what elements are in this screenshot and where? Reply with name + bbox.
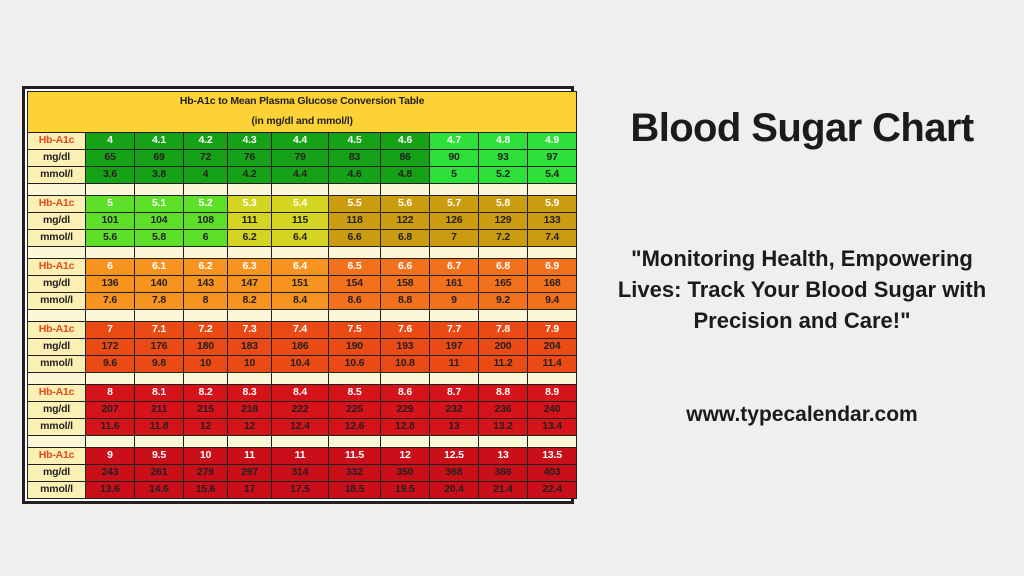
row-label-a1c: Hb-A1c [28,385,86,402]
cell-a1c: 5.5 [329,196,381,213]
cell-a1c: 12.5 [430,448,479,465]
cell-mmol: 12.6 [329,419,381,436]
cell-mgdl: 122 [381,213,430,230]
cell-a1c: 11 [228,448,272,465]
table-row: mg/dl207211215218222225229232236240 [28,402,577,419]
table-subtitle-row: (in mg/dl and mmol/l) [28,112,577,133]
cell-mmol: 7 [430,230,479,247]
cell-mgdl: 151 [272,276,329,293]
cell-mgdl: 207 [86,402,135,419]
row-label-mmol: mmol/l [28,419,86,436]
tagline-text: "Monitoring Health, Empowering Lives: Tr… [596,243,1008,337]
row-label-mgdl: mg/dl [28,150,86,167]
cell-a1c: 7.6 [381,322,430,339]
table-row: mmol/l11.611.8121212.412.612.81313.213.4 [28,419,577,436]
cell-mmol: 7.4 [528,230,577,247]
cell-mgdl: 97 [528,150,577,167]
cell-mgdl: 104 [135,213,184,230]
cell-mmol: 11.2 [479,356,528,373]
cell-mgdl: 204 [528,339,577,356]
cell-mmol: 4.8 [381,167,430,184]
cell-mmol: 4.2 [228,167,272,184]
row-label-mgdl: mg/dl [28,213,86,230]
cell-a1c: 10 [184,448,228,465]
cell-mmol: 6.4 [272,230,329,247]
cell-mmol: 6.6 [329,230,381,247]
cell-mmol: 4 [184,167,228,184]
hba1c-conversion-table: Hb-A1c to Mean Plasma Glucose Conversion… [27,91,577,499]
cell-mmol: 4.4 [272,167,329,184]
cell-a1c: 7.3 [228,322,272,339]
cell-mmol: 8.6 [329,293,381,310]
row-label-mmol: mmol/l [28,293,86,310]
cell-a1c: 8.2 [184,385,228,402]
table-row: Hb-A1c55.15.25.35.45.55.65.75.85.9 [28,196,577,213]
cell-mmol: 14.6 [135,482,184,499]
cell-mmol: 20.4 [430,482,479,499]
cell-a1c: 6.9 [528,259,577,276]
cell-mgdl: 243 [86,465,135,482]
page-title: Blood Sugar Chart [596,106,1008,151]
cell-mmol: 7.2 [479,230,528,247]
cell-mgdl: 332 [329,465,381,482]
cell-mmol: 13.6 [86,482,135,499]
cell-a1c: 7.8 [479,322,528,339]
cell-a1c: 4.2 [184,133,228,150]
cell-mgdl: 368 [430,465,479,482]
row-label-mmol: mmol/l [28,167,86,184]
cell-mmol: 11.4 [528,356,577,373]
cell-mgdl: 86 [381,150,430,167]
cell-mgdl: 215 [184,402,228,419]
cell-mmol: 5 [430,167,479,184]
cell-mgdl: 197 [430,339,479,356]
cell-mmol: 21.4 [479,482,528,499]
cell-mgdl: 190 [329,339,381,356]
cell-a1c: 5.1 [135,196,184,213]
cell-mgdl: 147 [228,276,272,293]
row-label-a1c: Hb-A1c [28,133,86,150]
cell-mmol: 11.8 [135,419,184,436]
cell-mgdl: 236 [479,402,528,419]
cell-mmol: 6.8 [381,230,430,247]
right-text-panel: Blood Sugar Chart "Monitoring Health, Em… [596,86,1008,504]
cell-a1c: 4.4 [272,133,329,150]
cell-mgdl: 69 [135,150,184,167]
cell-mmol: 5.4 [528,167,577,184]
cell-a1c: 4.9 [528,133,577,150]
cell-mgdl: 297 [228,465,272,482]
cell-mmol: 9.2 [479,293,528,310]
cell-a1c: 4.7 [430,133,479,150]
cell-mgdl: 154 [329,276,381,293]
table-row: Hb-A1c44.14.24.34.44.54.64.74.84.9 [28,133,577,150]
cell-a1c: 4.8 [479,133,528,150]
table-row: mg/dl136140143147151154158161165168 [28,276,577,293]
cell-mmol: 12.8 [381,419,430,436]
cell-mgdl: 90 [430,150,479,167]
cell-mgdl: 143 [184,276,228,293]
cell-mmol: 10 [184,356,228,373]
cell-mgdl: 161 [430,276,479,293]
cell-a1c: 8.3 [228,385,272,402]
cell-mgdl: 133 [528,213,577,230]
cell-mgdl: 350 [381,465,430,482]
row-label-mgdl: mg/dl [28,276,86,293]
cell-mgdl: 314 [272,465,329,482]
cell-a1c: 6.3 [228,259,272,276]
table-title: Hb-A1c to Mean Plasma Glucose Conversion… [28,92,577,113]
cell-a1c: 7.9 [528,322,577,339]
cell-a1c: 7.5 [329,322,381,339]
row-label-mmol: mmol/l [28,482,86,499]
cell-a1c: 8.5 [329,385,381,402]
cell-mmol: 8.8 [381,293,430,310]
cell-mmol: 8 [184,293,228,310]
cell-a1c: 7 [86,322,135,339]
cell-mmol: 3.6 [86,167,135,184]
cell-mmol: 5.6 [86,230,135,247]
cell-mgdl: 126 [430,213,479,230]
cell-a1c: 11.5 [329,448,381,465]
cell-a1c: 7.4 [272,322,329,339]
cell-a1c: 5.8 [479,196,528,213]
cell-mgdl: 222 [272,402,329,419]
table-row: mmol/l5.65.866.26.46.66.877.27.4 [28,230,577,247]
cell-mmol: 3.8 [135,167,184,184]
cell-mmol: 13.4 [528,419,577,436]
cell-mmol: 9 [430,293,479,310]
cell-a1c: 8.9 [528,385,577,402]
cell-mmol: 7.8 [135,293,184,310]
cell-a1c: 8.1 [135,385,184,402]
cell-a1c: 6.1 [135,259,184,276]
cell-mmol: 10 [228,356,272,373]
cell-mgdl: 229 [381,402,430,419]
cell-mgdl: 79 [272,150,329,167]
block-spacer-row [28,436,577,448]
cell-a1c: 5.4 [272,196,329,213]
cell-a1c: 6.8 [479,259,528,276]
table-row: mmol/l9.69.8101010.410.610.81111.211.4 [28,356,577,373]
cell-mgdl: 211 [135,402,184,419]
table-body: Hb-A1c to Mean Plasma Glucose Conversion… [28,92,577,499]
cell-mgdl: 225 [329,402,381,419]
table-row: mg/dl101104108111115118122126129133 [28,213,577,230]
cell-a1c: 4.1 [135,133,184,150]
cell-mgdl: 101 [86,213,135,230]
cell-mmol: 10.4 [272,356,329,373]
table-row: mmol/l7.67.888.28.48.68.899.29.4 [28,293,577,310]
row-label-a1c: Hb-A1c [28,196,86,213]
cell-mmol: 18.5 [329,482,381,499]
row-label-a1c: Hb-A1c [28,322,86,339]
cell-mmol: 12.4 [272,419,329,436]
cell-mgdl: 158 [381,276,430,293]
cell-mgdl: 261 [135,465,184,482]
cell-mgdl: 279 [184,465,228,482]
cell-a1c: 6.7 [430,259,479,276]
cell-mgdl: 168 [528,276,577,293]
cell-mgdl: 165 [479,276,528,293]
cell-mmol: 19.5 [381,482,430,499]
cell-mmol: 22.4 [528,482,577,499]
cell-mgdl: 108 [184,213,228,230]
table-row: mmol/l13.614.615.61717.518.519.520.421.4… [28,482,577,499]
cell-mmol: 9.4 [528,293,577,310]
table-row: Hb-A1c99.510111111.51212.51313.5 [28,448,577,465]
row-label-mmol: mmol/l [28,356,86,373]
cell-a1c: 6.6 [381,259,430,276]
table-row: mg/dl243261279297314332350368386403 [28,465,577,482]
cell-a1c: 4 [86,133,135,150]
cell-mgdl: 118 [329,213,381,230]
row-label-mgdl: mg/dl [28,339,86,356]
cell-mmol: 9.6 [86,356,135,373]
cell-a1c: 7.1 [135,322,184,339]
cell-mgdl: 83 [329,150,381,167]
cell-a1c: 5.6 [381,196,430,213]
block-spacer-row [28,373,577,385]
block-spacer-row [28,184,577,196]
table-row: mg/dl65697276798386909397 [28,150,577,167]
cell-a1c: 4.6 [381,133,430,150]
website-url: www.typecalendar.com [596,403,1008,427]
cell-a1c: 12 [381,448,430,465]
cell-mgdl: 218 [228,402,272,419]
table-row: Hb-A1c88.18.28.38.48.58.68.78.88.9 [28,385,577,402]
cell-mgdl: 186 [272,339,329,356]
cell-mgdl: 200 [479,339,528,356]
cell-mmol: 13.2 [479,419,528,436]
cell-a1c: 11 [272,448,329,465]
cell-mgdl: 129 [479,213,528,230]
cell-mgdl: 136 [86,276,135,293]
table-row: mmol/l3.63.844.24.44.64.855.25.4 [28,167,577,184]
cell-mgdl: 386 [479,465,528,482]
cell-mmol: 4.6 [329,167,381,184]
cell-a1c: 6 [86,259,135,276]
cell-a1c: 8.4 [272,385,329,402]
row-label-mgdl: mg/dl [28,465,86,482]
cell-mgdl: 65 [86,150,135,167]
cell-a1c: 7.2 [184,322,228,339]
cell-a1c: 9 [86,448,135,465]
row-label-a1c: Hb-A1c [28,448,86,465]
table-row: Hb-A1c77.17.27.37.47.57.67.77.87.9 [28,322,577,339]
cell-a1c: 5.3 [228,196,272,213]
cell-mgdl: 176 [135,339,184,356]
cell-mmol: 6 [184,230,228,247]
cell-a1c: 8.8 [479,385,528,402]
cell-a1c: 4.3 [228,133,272,150]
cell-a1c: 8 [86,385,135,402]
row-label-mmol: mmol/l [28,230,86,247]
cell-mmol: 9.8 [135,356,184,373]
cell-a1c: 8.7 [430,385,479,402]
cell-a1c: 6.5 [329,259,381,276]
cell-a1c: 13.5 [528,448,577,465]
cell-a1c: 8.6 [381,385,430,402]
cell-mgdl: 180 [184,339,228,356]
cell-mmol: 12 [184,419,228,436]
cell-mmol: 10.6 [329,356,381,373]
cell-mmol: 13 [430,419,479,436]
cell-a1c: 9.5 [135,448,184,465]
cell-mgdl: 76 [228,150,272,167]
table-subtitle: (in mg/dl and mmol/l) [28,112,577,133]
cell-a1c: 5.9 [528,196,577,213]
cell-mmol: 15.6 [184,482,228,499]
cell-mgdl: 193 [381,339,430,356]
cell-mgdl: 403 [528,465,577,482]
cell-a1c: 5.7 [430,196,479,213]
cell-a1c: 7.7 [430,322,479,339]
table-title-row: Hb-A1c to Mean Plasma Glucose Conversion… [28,92,577,113]
cell-mmol: 11.6 [86,419,135,436]
table-row: Hb-A1c66.16.26.36.46.56.66.76.86.9 [28,259,577,276]
cell-mmol: 12 [228,419,272,436]
cell-mgdl: 183 [228,339,272,356]
cell-a1c: 5.2 [184,196,228,213]
block-spacer-row [28,247,577,259]
cell-a1c: 5 [86,196,135,213]
cell-a1c: 13 [479,448,528,465]
block-spacer-row [28,310,577,322]
cell-mgdl: 140 [135,276,184,293]
cell-mmol: 17 [228,482,272,499]
cell-mmol: 5.2 [479,167,528,184]
cell-mmol: 5.8 [135,230,184,247]
cell-a1c: 6.4 [272,259,329,276]
cell-mmol: 7.6 [86,293,135,310]
row-label-a1c: Hb-A1c [28,259,86,276]
cell-a1c: 6.2 [184,259,228,276]
cell-mmol: 8.4 [272,293,329,310]
cell-mgdl: 115 [272,213,329,230]
cell-mgdl: 111 [228,213,272,230]
cell-mgdl: 240 [528,402,577,419]
cell-mmol: 10.8 [381,356,430,373]
cell-mgdl: 232 [430,402,479,419]
table-row: mg/dl172176180183186190193197200204 [28,339,577,356]
cell-mmol: 6.2 [228,230,272,247]
cell-mmol: 11 [430,356,479,373]
row-label-mgdl: mg/dl [28,402,86,419]
cell-mgdl: 72 [184,150,228,167]
cell-mmol: 17.5 [272,482,329,499]
cell-mgdl: 172 [86,339,135,356]
cell-mmol: 8.2 [228,293,272,310]
cell-mgdl: 93 [479,150,528,167]
cell-a1c: 4.5 [329,133,381,150]
conversion-table-card: Hb-A1c to Mean Plasma Glucose Conversion… [22,86,574,504]
